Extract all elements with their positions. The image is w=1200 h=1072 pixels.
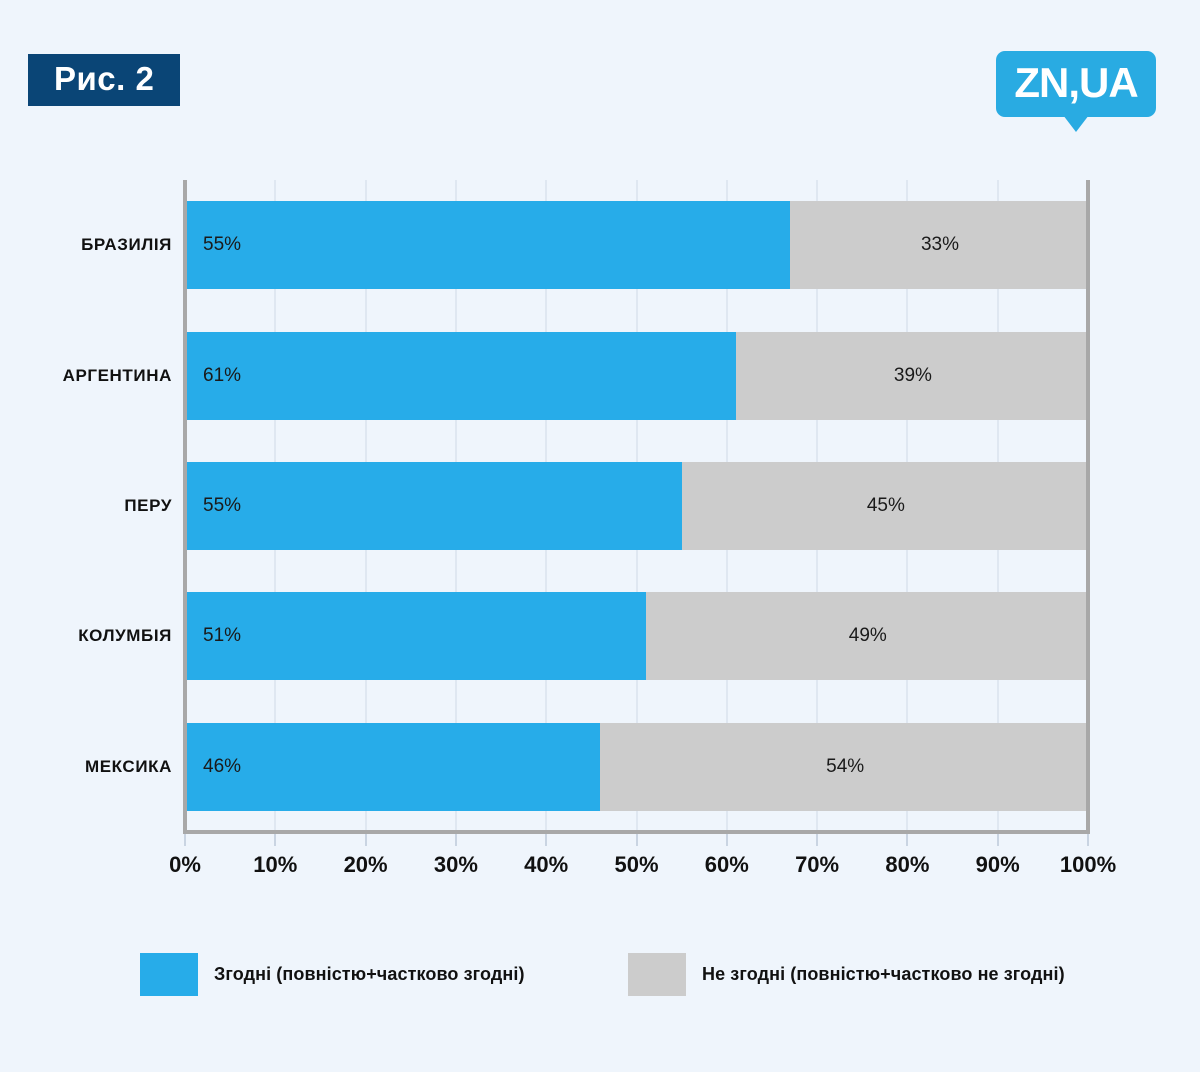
- x-axis-tick-label: 20%: [344, 852, 388, 878]
- bar-group: 61%39%: [185, 332, 1088, 420]
- speech-bubble-tail-icon: [1063, 115, 1089, 132]
- bar-value-label: 55%: [185, 234, 241, 256]
- legend-swatch: [628, 953, 686, 996]
- bar-value-label: 49%: [849, 625, 887, 647]
- legend-label: Не згодні (повністю+частково не згодні): [702, 964, 1065, 985]
- x-axis-tick: [274, 834, 276, 846]
- x-axis-tick: [997, 834, 999, 846]
- bar-value-label: 33%: [921, 234, 959, 256]
- category-label: КОЛУМБІЯ: [78, 624, 172, 648]
- x-axis-tick: [545, 834, 547, 846]
- x-axis-tick-label: 60%: [705, 852, 749, 878]
- x-axis-tick-label: 10%: [253, 852, 297, 878]
- bar-group: 55%33%: [185, 201, 1088, 289]
- bar-segment-disagree[interactable]: 54%: [600, 723, 1088, 811]
- x-axis-tick: [906, 834, 908, 846]
- znua-logo[interactable]: ZN,UA: [996, 51, 1156, 117]
- bar-value-label: 55%: [185, 495, 241, 517]
- legend-item[interactable]: Не згодні (повністю+частково не згодні): [628, 952, 1065, 996]
- x-axis-tick-label: 40%: [524, 852, 568, 878]
- chart-header: Рис. 2 ZN,UA: [0, 0, 1200, 160]
- x-axis-tick: [1087, 834, 1089, 846]
- bar-segment-disagree[interactable]: 33%: [790, 201, 1088, 289]
- y-axis-line: [183, 180, 187, 834]
- x-axis-tick: [455, 834, 457, 846]
- category-label: ПЕРУ: [124, 494, 172, 518]
- bar-group: 46%54%: [185, 723, 1088, 811]
- logo-text: ZN,UA: [1014, 62, 1137, 107]
- x-axis-tick-label: 70%: [795, 852, 839, 878]
- x-axis-tick: [636, 834, 638, 846]
- bar-value-label: 61%: [185, 365, 241, 387]
- bar-value-label: 46%: [185, 756, 241, 778]
- bar-value-label: 54%: [826, 756, 864, 778]
- bar-group: 55%45%: [185, 462, 1088, 550]
- x-axis-tick: [816, 834, 818, 846]
- bar-segment-agree[interactable]: 51%: [185, 592, 646, 680]
- figure-number-badge: Рис. 2: [28, 54, 180, 106]
- category-label: АРГЕНТИНА: [63, 364, 172, 388]
- category-axis-labels: БРАЗИЛІЯАРГЕНТИНАПЕРУКОЛУМБІЯМЕКСИКА: [0, 180, 172, 832]
- category-label: БРАЗИЛІЯ: [81, 233, 172, 257]
- x-axis-tick: [365, 834, 367, 846]
- x-axis-tick-label: 80%: [885, 852, 929, 878]
- legend-label: Згодні (повністю+частково згодні): [214, 964, 525, 985]
- bar-segment-agree[interactable]: 61%: [185, 332, 736, 420]
- bar-value-label: 51%: [185, 625, 241, 647]
- chart-legend: Згодні (повністю+частково згодні)Не згод…: [0, 952, 1200, 1012]
- plot-area: 55%33%61%39%55%45%51%49%46%54%: [185, 180, 1088, 832]
- bar-value-label: 39%: [894, 365, 932, 387]
- bar-segment-agree[interactable]: 55%: [185, 201, 790, 289]
- y-axis-line-right: [1086, 180, 1090, 834]
- x-axis-tick: [726, 834, 728, 846]
- bar-value-label: 45%: [867, 495, 905, 517]
- legend-item[interactable]: Згодні (повністю+частково згодні): [140, 952, 525, 996]
- bar-segment-agree[interactable]: 55%: [185, 462, 682, 550]
- bar-group: 51%49%: [185, 592, 1088, 680]
- x-axis-tick-label: 100%: [1060, 852, 1116, 878]
- bar-segment-disagree[interactable]: 39%: [736, 332, 1088, 420]
- bar-segment-disagree[interactable]: 45%: [682, 462, 1088, 550]
- x-axis-tick-label: 30%: [434, 852, 478, 878]
- x-axis-tick-label: 0%: [169, 852, 201, 878]
- bar-segment-agree[interactable]: 46%: [185, 723, 600, 811]
- x-axis-tick-label: 90%: [976, 852, 1020, 878]
- legend-swatch: [140, 953, 198, 996]
- x-axis-tick: [184, 834, 186, 846]
- x-axis-tick-label: 50%: [614, 852, 658, 878]
- logo-bubble: ZN,UA: [996, 51, 1156, 117]
- stacked-bar-chart: БРАЗИЛІЯАРГЕНТИНАПЕРУКОЛУМБІЯМЕКСИКА 55%…: [0, 160, 1200, 920]
- bar-segment-disagree[interactable]: 49%: [646, 592, 1088, 680]
- category-label: МЕКСИКА: [85, 755, 172, 779]
